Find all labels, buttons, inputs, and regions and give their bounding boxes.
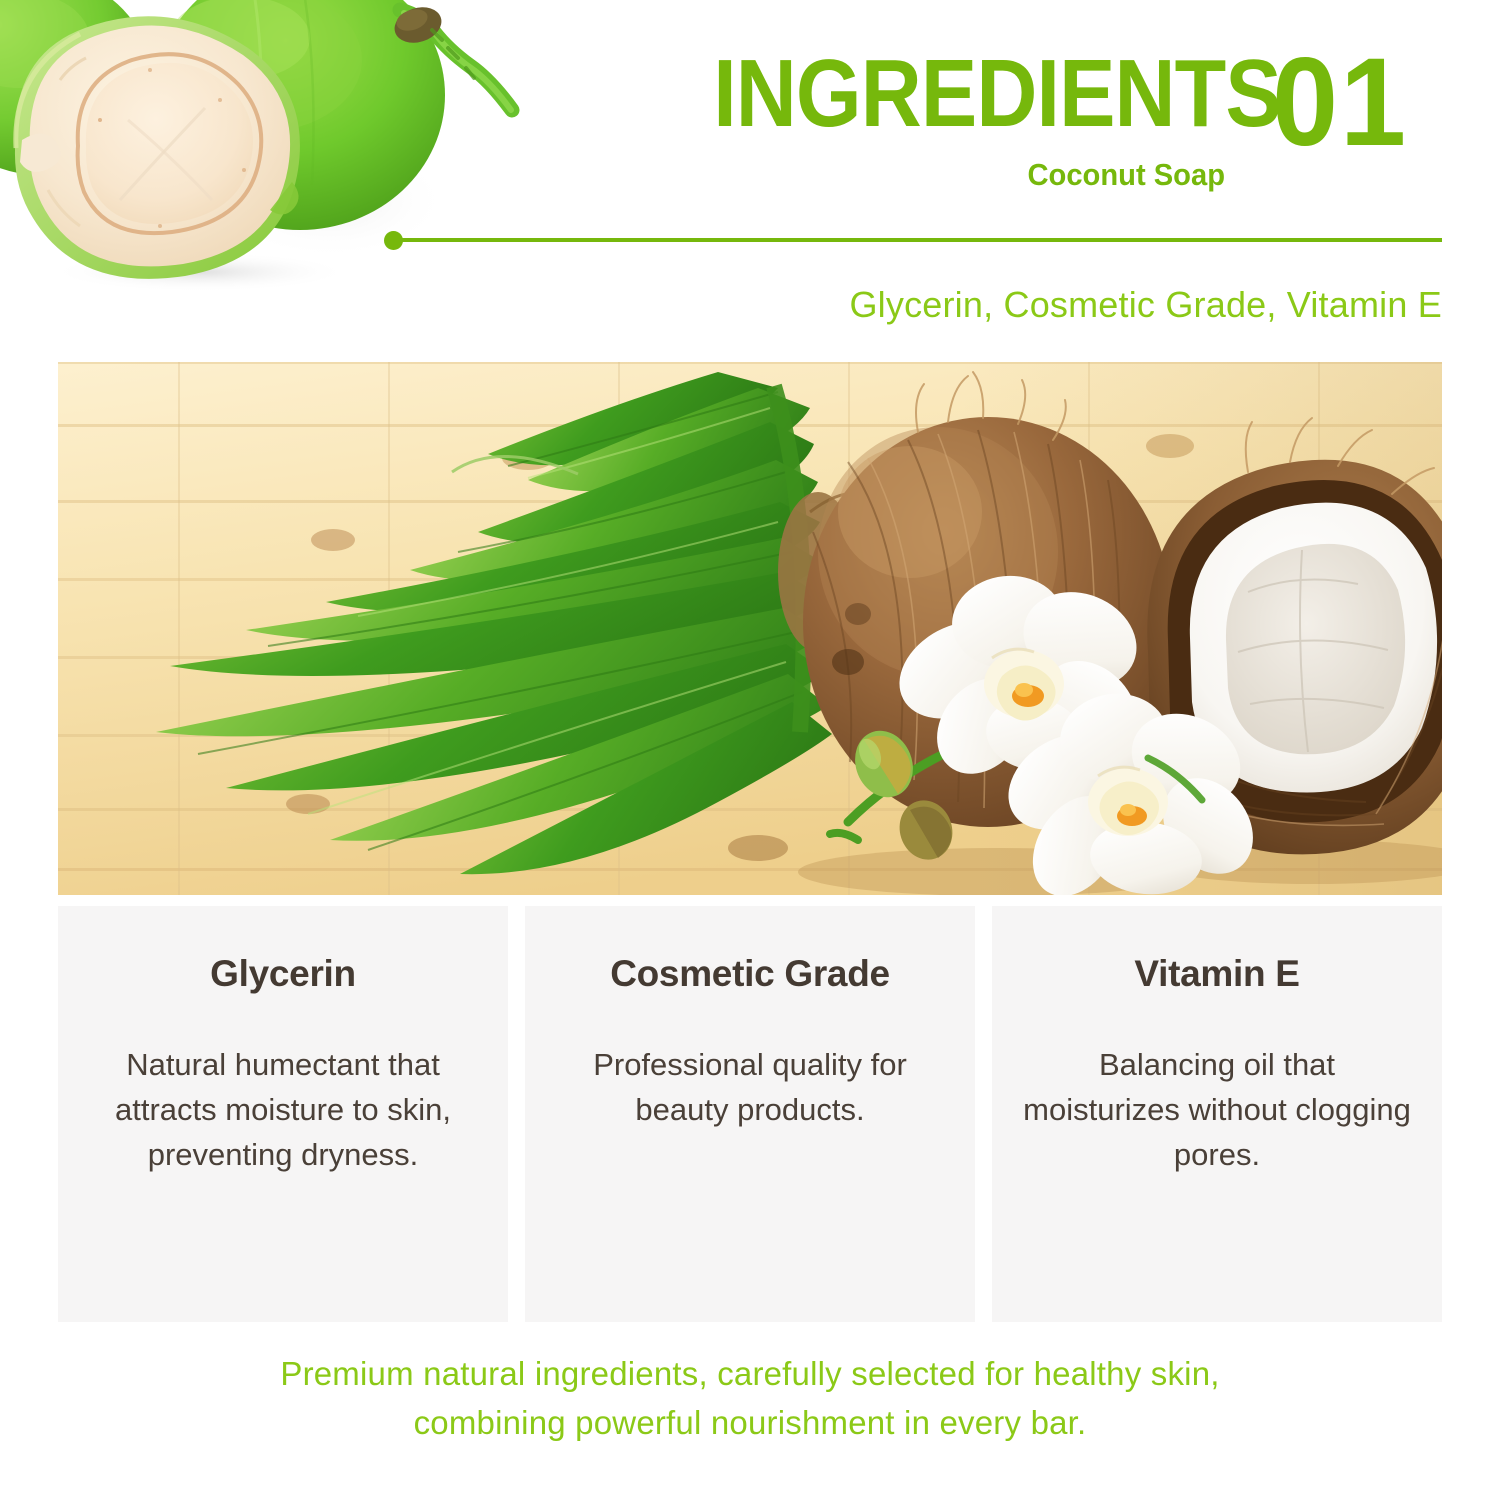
ingredient-card: Vitamin E Balancing oil that moisturizes…	[992, 906, 1442, 1322]
ingredient-card: Cosmetic Grade Professional quality for …	[525, 906, 975, 1322]
ingredient-card-title: Cosmetic Grade	[610, 952, 890, 996]
hero-image	[58, 362, 1442, 895]
section-number: 01	[1272, 40, 1408, 165]
ingredient-card-description: Natural humectant that attracts moisture…	[58, 1042, 508, 1177]
footer-tagline-line-1: Premium natural ingredients, carefully s…	[0, 1349, 1500, 1398]
corner-coconut-image	[0, 0, 560, 290]
footer-tagline: Premium natural ingredients, carefully s…	[0, 1349, 1500, 1447]
corner-coconut-illustration	[0, 0, 560, 290]
ingredient-card-description: Professional quality for beauty products…	[525, 1042, 975, 1132]
ingredient-card-title: Glycerin	[210, 952, 356, 996]
divider-line	[394, 238, 1442, 242]
ingredients-summary: Glycerin, Cosmetic Grade, Vitamin E	[849, 283, 1442, 327]
ingredient-card-description: Balancing oil that moisturizes without c…	[992, 1042, 1442, 1177]
page-title: INGREDIENTS	[713, 46, 1250, 142]
divider	[384, 236, 1442, 244]
hero-illustration	[58, 362, 1442, 895]
header: INGREDIENTS Coconut Soap 01	[640, 46, 1445, 206]
page-subtitle: Coconut Soap	[675, 158, 1225, 192]
ingredient-cards: Glycerin Natural humectant that attracts…	[58, 906, 1442, 1322]
ingredient-card-title: Vitamin E	[1134, 952, 1299, 996]
ingredient-card: Glycerin Natural humectant that attracts…	[58, 906, 508, 1322]
footer-tagline-line-2: combining powerful nourishment in every …	[0, 1398, 1500, 1447]
